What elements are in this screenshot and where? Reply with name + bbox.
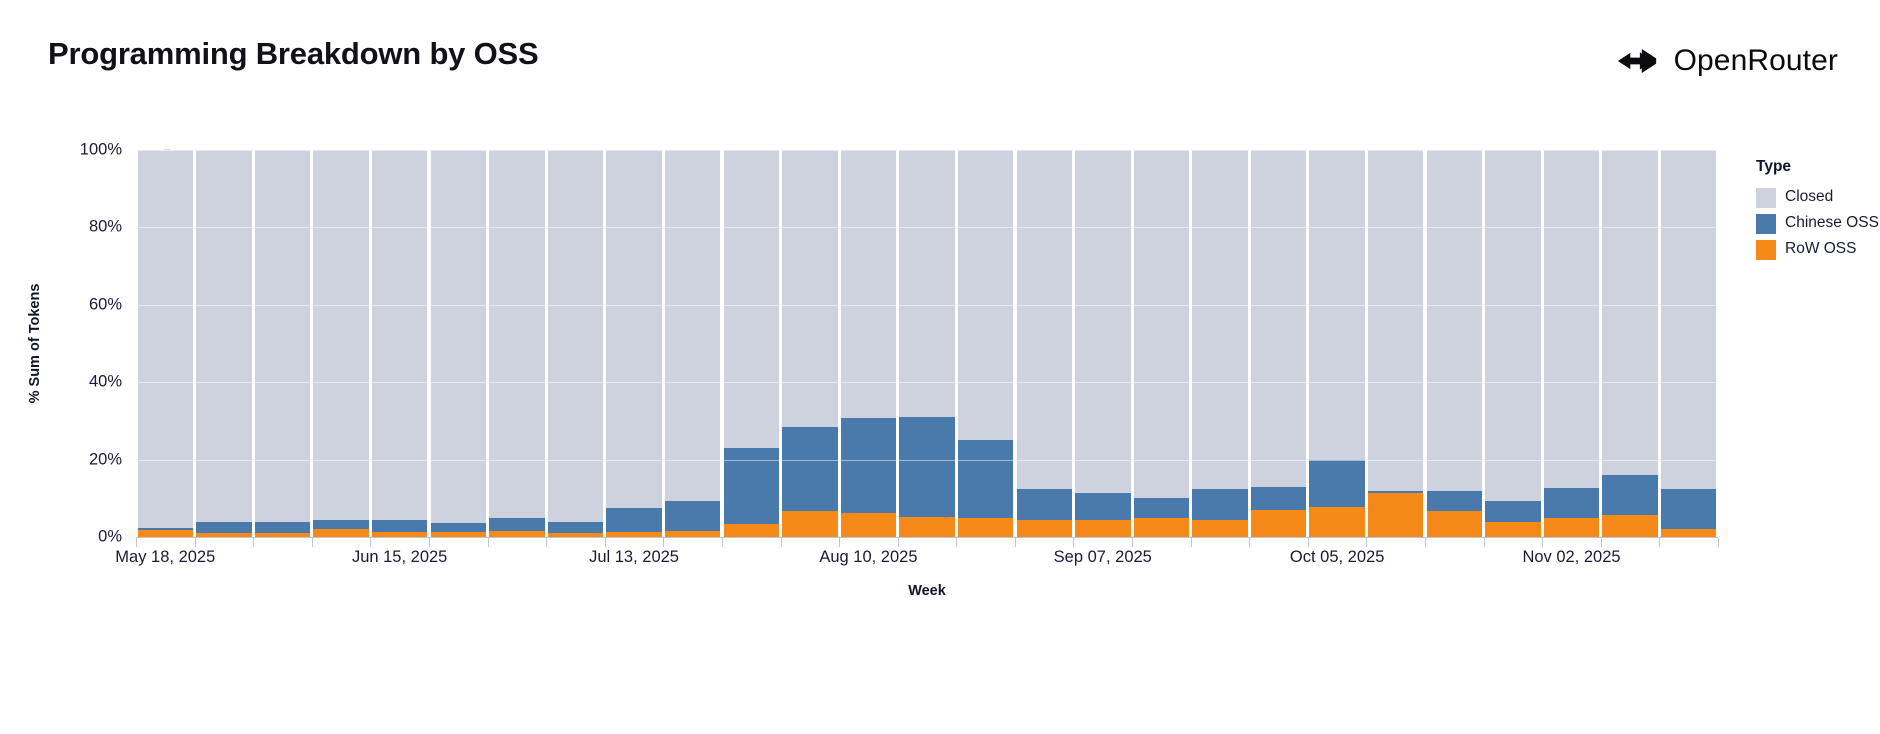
y-axis-tick-label: 20% [36, 450, 122, 469]
x-axis-tick-mark [1249, 538, 1250, 547]
x-axis-tick-mark [1425, 538, 1426, 547]
x-axis-tick-label: Nov 02, 2025 [1522, 548, 1620, 567]
legend: Type ClosedChinese OSSRoW OSS [1756, 158, 1880, 265]
x-axis-tick-mark [1718, 538, 1719, 547]
x-axis-tick-label: Sep 07, 2025 [1054, 548, 1152, 567]
x-axis-tick-label: Jul 13, 2025 [589, 548, 679, 567]
x-axis-tick-mark [488, 538, 489, 547]
x-axis-tick-mark [429, 538, 430, 547]
gridline [136, 382, 1718, 383]
x-axis-tick-mark [1484, 538, 1485, 547]
x-axis-tick-mark [1073, 538, 1074, 547]
legend-item[interactable]: Chinese OSS [1756, 213, 1880, 234]
brand-logo: OpenRouter [1614, 38, 1838, 84]
x-axis-tick-label: Oct 05, 2025 [1290, 548, 1384, 567]
x-axis-tick-mark [1601, 538, 1602, 547]
x-axis-tick-mark [1659, 538, 1660, 547]
x-axis-tick-mark [663, 538, 664, 547]
y-axis-tick-label: 80% [36, 218, 122, 237]
x-axis-title: Week [136, 583, 1718, 599]
legend-swatch [1756, 240, 1776, 260]
legend-swatch [1756, 214, 1776, 234]
legend-label: Chinese OSS [1785, 213, 1879, 232]
legend-label: Closed [1785, 187, 1833, 206]
gridline [136, 150, 1718, 151]
legend-title: Type [1756, 158, 1880, 176]
x-axis-tick-mark [898, 538, 899, 547]
plot-area [136, 150, 1718, 537]
x-axis-tick-mark [136, 538, 137, 547]
x-axis-tick-mark [1542, 538, 1543, 547]
y-axis-tick-label: 100% [36, 141, 122, 160]
chart-page: Programming Breakdown by OSS OpenRouter … [0, 0, 1880, 734]
x-axis-ticks [136, 538, 1718, 548]
gridlines [136, 150, 1718, 537]
x-axis-tick-mark [1366, 538, 1367, 547]
x-axis-tick-mark [722, 538, 723, 547]
x-axis-tick-mark [370, 538, 371, 547]
brand-name: OpenRouter [1674, 44, 1838, 78]
legend-item[interactable]: RoW OSS [1756, 239, 1880, 260]
gridline [136, 305, 1718, 306]
x-axis-tick-mark [1191, 538, 1192, 547]
x-axis-tick-mark [1015, 538, 1016, 547]
x-axis-tick-label: Aug 10, 2025 [819, 548, 917, 567]
legend-label: RoW OSS [1785, 239, 1856, 258]
gridline [136, 227, 1718, 228]
x-axis-tick-mark [605, 538, 606, 547]
x-axis-tick-mark [312, 538, 313, 547]
gridline [136, 460, 1718, 461]
x-axis-tick-mark [1308, 538, 1309, 547]
x-axis-tick-mark [253, 538, 254, 547]
legend-items: ClosedChinese OSSRoW OSS [1756, 187, 1880, 260]
x-axis-tick-mark [1132, 538, 1133, 547]
y-axis-tick-label: 40% [36, 373, 122, 392]
x-axis-tick-mark [781, 538, 782, 547]
legend-swatch [1756, 188, 1776, 208]
x-axis-tick-label: May 18, 2025 [115, 548, 215, 567]
x-axis-tick-mark [195, 538, 196, 547]
y-axis-ticks: 0%20%40%60%80%100% [36, 0, 122, 734]
legend-item[interactable]: Closed [1756, 187, 1880, 208]
openrouter-logo-icon [1614, 38, 1660, 84]
y-axis-tick-label: 60% [36, 295, 122, 314]
x-axis-tick-mark [546, 538, 547, 547]
y-axis-tick-label: 0% [36, 528, 122, 547]
x-axis-tick-mark [956, 538, 957, 547]
x-axis-tick-mark [839, 538, 840, 547]
x-axis-tick-label: Jun 15, 2025 [352, 548, 447, 567]
